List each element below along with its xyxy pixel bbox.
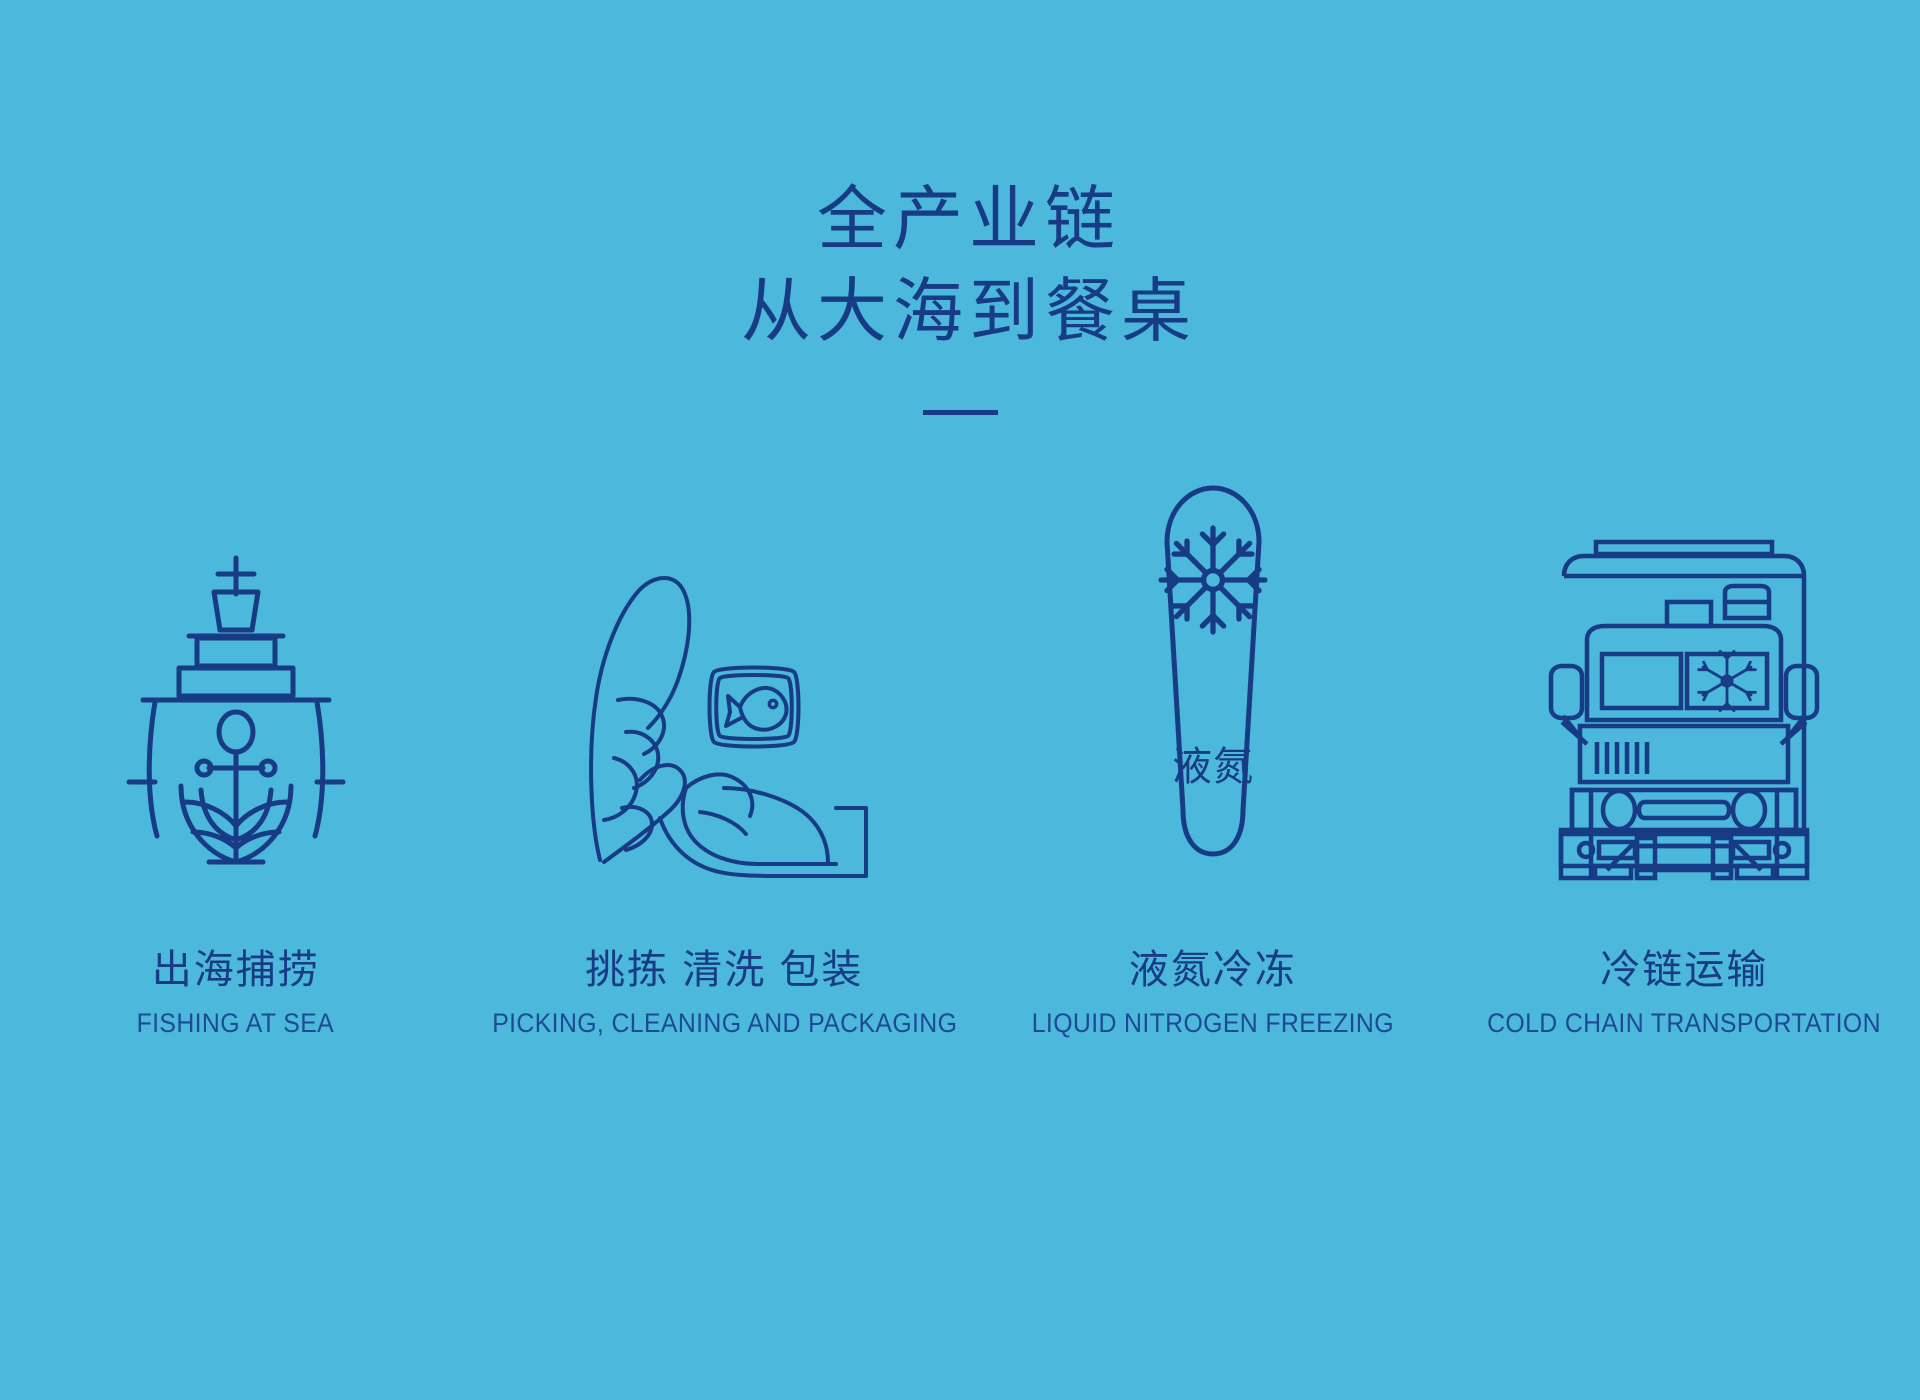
- step-label-en: FISHING AT SEA: [137, 1008, 334, 1039]
- step-label-en: LIQUID NITROGEN FREEZING: [1032, 1008, 1394, 1039]
- fishing-boat-icon: [121, 520, 351, 880]
- step-label-en: PICKING, CLEANING AND PACKAGING: [492, 1008, 957, 1039]
- page-title: 全产业链 从大海到餐桌: [0, 175, 1920, 415]
- liquid-nitrogen-tank-icon: 液氮: [1123, 520, 1303, 880]
- step-fishing-at-sea[interactable]: 出海捕捞 FISHING AT SEA: [0, 520, 472, 1039]
- title-divider: [923, 410, 998, 415]
- step-label-zh: 冷链运输: [1600, 948, 1768, 992]
- tank-text: 液氮: [1172, 745, 1254, 789]
- step-label-zh: 出海捕捞: [152, 948, 320, 992]
- hands-packaged-fish-icon: [574, 520, 874, 880]
- step-liquid-nitrogen-freezing[interactable]: 液氮 液氮冷冻 LIQUID NITROGEN FREEZING: [977, 520, 1449, 1039]
- step-label-en: COLD CHAIN TRANSPORTATION: [1487, 1008, 1881, 1039]
- title-line-1: 全产业链: [18, 175, 1920, 267]
- refrigerated-truck-icon: [1539, 520, 1829, 880]
- title-line-2: 从大海到餐桌: [18, 267, 1920, 359]
- step-label-zh: 液氮冷冻: [1129, 948, 1297, 992]
- step-cold-chain-transportation[interactable]: 冷链运输 COLD CHAIN TRANSPORTATION: [1449, 520, 1920, 1039]
- step-label-zh: 挑拣 清洗 包装: [585, 948, 863, 992]
- step-picking-cleaning-packaging[interactable]: 挑拣 清洗 包装 PICKING, CLEANING AND PACKAGING: [472, 520, 978, 1039]
- page-root: 全产业链 从大海到餐桌: [0, 0, 1920, 1400]
- process-steps: 出海捕捞 FISHING AT SEA: [0, 520, 1920, 1039]
